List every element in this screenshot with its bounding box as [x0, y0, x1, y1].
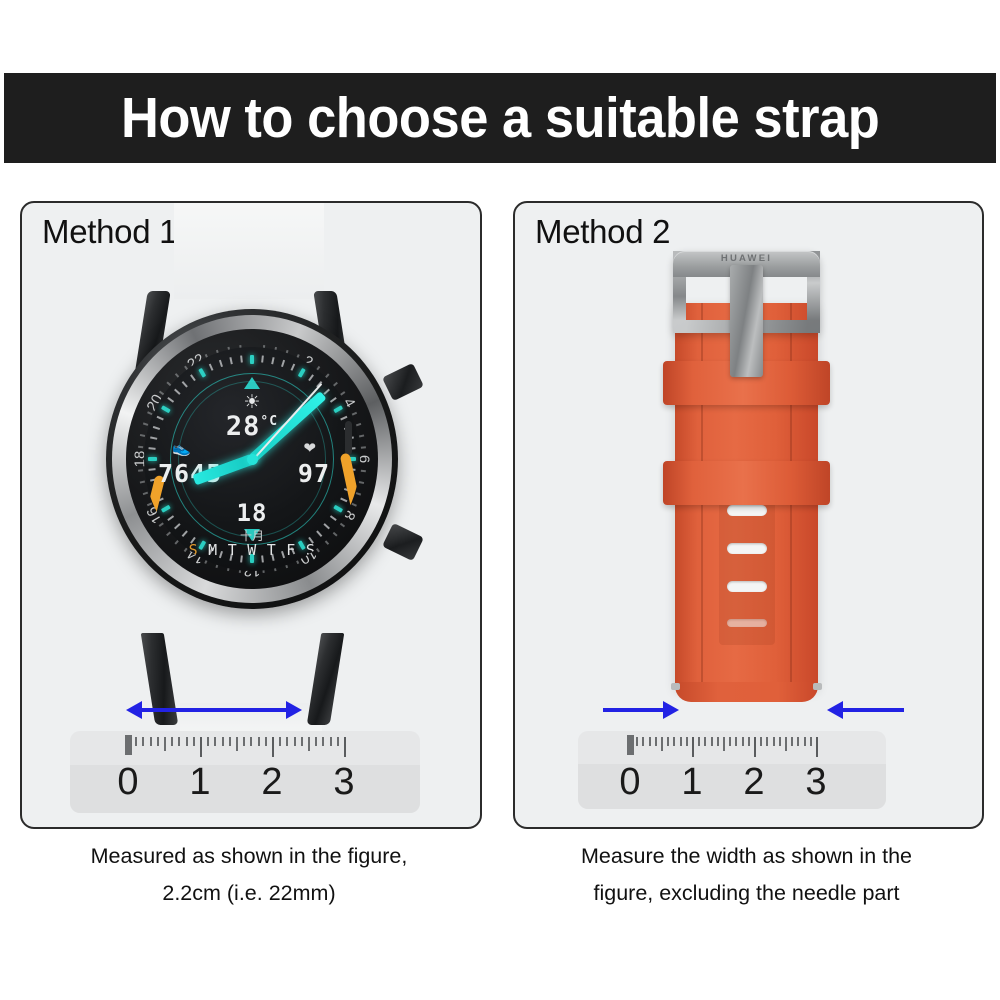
- dial-minute-tick: [316, 530, 322, 537]
- dial-hour-marker: [148, 457, 157, 461]
- watch-hand-pivot: [247, 454, 258, 465]
- ruler-tick-minor: [315, 737, 317, 746]
- arrow-shaft-left: [603, 708, 665, 712]
- arrow-head-pointing-left: [827, 701, 843, 719]
- bezel-tick: [356, 423, 361, 426]
- ruler-tick-minor: [308, 737, 310, 751]
- ruler-tick-minor: [810, 737, 812, 746]
- bezel-tick: [143, 492, 148, 495]
- ruler-tick-minor: [164, 737, 166, 751]
- method-2-caption: Measure the width as shown in the figure…: [513, 838, 980, 912]
- dial-minute-tick: [308, 374, 314, 381]
- ruler-tick-minor: [186, 737, 188, 746]
- strap-keeper-loop: [663, 461, 830, 505]
- ruler-tick-minor: [791, 737, 793, 746]
- dial-hour-marker: [298, 368, 306, 378]
- method-1-panel: Method 1 246810121416182022: [20, 201, 482, 829]
- dial-minute-tick: [209, 364, 214, 371]
- method-1-measure-arrow: [22, 697, 480, 727]
- dial-minute-tick: [340, 498, 347, 503]
- ruler-tick-minor: [686, 737, 688, 746]
- ruler-tick-minor: [142, 737, 144, 746]
- dial-weekday-row: SMTWTFS: [179, 541, 326, 559]
- watch-crown-button-top: [382, 363, 424, 401]
- dial-minute-tick: [281, 360, 285, 367]
- dial-minute-tick: [148, 447, 155, 450]
- ruler-tick-minor: [157, 737, 159, 746]
- ruler-tick-minor: [717, 737, 719, 746]
- dial-minute-tick: [174, 523, 181, 529]
- ruler-tick-minor: [729, 737, 731, 746]
- dial-hour-marker: [161, 505, 171, 513]
- dial-minute-tick: [182, 381, 188, 388]
- dial-marker-triangle-top: [244, 377, 260, 389]
- ruler-tick-minor: [258, 737, 260, 746]
- bezel-tick: [361, 446, 366, 448]
- dial-minute-tick: [340, 416, 347, 421]
- ruler-tick-minor: [748, 737, 750, 746]
- ruler-tick-major: [272, 737, 274, 757]
- method-2-panel: Method 2 HUAWEI: [513, 201, 984, 829]
- strap-hole: [727, 619, 767, 627]
- strap-spring-bar-left: [671, 683, 680, 690]
- ruler-tick-minor: [150, 737, 152, 746]
- heart-icon: ❤: [303, 439, 316, 457]
- ruler-tick-minor: [265, 737, 267, 746]
- dial-heart-rate: 97: [298, 459, 330, 488]
- dial-hour-marker: [333, 405, 343, 413]
- dial-date-day: 18: [237, 499, 268, 527]
- method-2-ruler: 0123: [578, 731, 886, 809]
- ruler-tick-minor: [171, 737, 173, 746]
- ruler-tick-zero: [627, 735, 634, 755]
- arrow-head-right: [286, 701, 302, 719]
- dial-progress-arc-right-tail: [345, 421, 352, 455]
- ruler-tick-minor: [661, 737, 663, 751]
- ruler-tick-minor: [279, 737, 281, 746]
- dial-hour-marker: [198, 368, 206, 378]
- caption-line: Measured as shown in the figure,: [20, 838, 478, 875]
- dial-minute-tick: [150, 436, 157, 439]
- ruler-number: 2: [261, 761, 282, 804]
- dial-minute-tick: [148, 468, 155, 471]
- caption-line: 2.2cm (i.e. 22mm): [20, 875, 478, 912]
- dial-minute-tick: [261, 355, 264, 362]
- ruler-tick-minor: [250, 737, 252, 746]
- dial-hour-marker: [333, 505, 343, 513]
- strap-hole: [727, 505, 767, 516]
- ruler-tick-minor: [742, 737, 744, 746]
- ruler-tick-minor: [766, 737, 768, 746]
- ruler-tick-minor: [294, 737, 296, 746]
- bezel-tick: [359, 434, 364, 437]
- watch-band-top: [174, 203, 324, 299]
- watch-crown-button-bottom: [382, 523, 424, 561]
- ruler-number: 3: [333, 761, 354, 804]
- dial-hour-marker: [161, 405, 171, 413]
- arrow-head-pointing-right: [663, 701, 679, 719]
- ruler-tick-minor: [655, 737, 657, 746]
- ruler-tick-minor: [723, 737, 725, 751]
- ruler-tick-minor: [178, 737, 180, 746]
- ruler-tick-minor: [735, 737, 737, 746]
- ruler-tick-minor: [785, 737, 787, 751]
- bezel-tick: [140, 481, 145, 484]
- ruler-tick-minor: [642, 737, 644, 746]
- ruler-tick-minor: [636, 737, 638, 746]
- dial-minute-tick: [271, 357, 274, 364]
- dial-minute-tick: [323, 523, 330, 529]
- ruler-ticks: [70, 731, 420, 765]
- watch-dial: ☀ 28°C 👟 7645 ❤ 97 18 十月 SMTWTFS: [144, 347, 360, 571]
- dial-minute-tick: [153, 426, 160, 430]
- ruler-tick-minor: [193, 737, 195, 746]
- ruler-tick-minor: [229, 737, 231, 746]
- ruler-number: 1: [189, 761, 210, 804]
- arrow-shaft-right: [842, 708, 904, 712]
- shoe-icon: 👟: [172, 439, 191, 457]
- ruler-tick-minor: [337, 737, 339, 746]
- ruler-tick-major: [200, 737, 202, 757]
- ruler-tick-minor: [214, 737, 216, 746]
- ruler-number: 2: [743, 761, 764, 804]
- bezel-tick: [138, 470, 143, 472]
- bezel-tick: [361, 470, 366, 472]
- ruler-tick-minor: [330, 737, 332, 746]
- method-1-ruler: 0123: [70, 731, 420, 813]
- bezel-tick: [138, 446, 143, 448]
- ruler-tick-minor: [222, 737, 224, 746]
- dial-minute-tick: [229, 357, 232, 364]
- ruler-tick-minor: [236, 737, 238, 751]
- dial-minute-tick: [330, 515, 337, 521]
- ruler-tick-minor: [680, 737, 682, 746]
- dial-minute-tick: [174, 389, 181, 395]
- arrow-shaft: [140, 708, 288, 712]
- strap-hole: [727, 543, 767, 554]
- bezel-tick: [352, 412, 357, 415]
- ruler-number: 3: [805, 761, 826, 804]
- bezel-tick: [359, 481, 364, 484]
- page-root: How to choose a suitable strap Method 1 …: [0, 0, 1000, 1000]
- dial-minute-tick: [167, 515, 174, 521]
- dial-minute-tick: [240, 355, 243, 362]
- ruler-number: 1: [681, 761, 702, 804]
- bezel-tick: [143, 423, 148, 426]
- page-title: How to choose a suitable strap: [121, 85, 879, 151]
- ruler-tick-major: [816, 737, 818, 757]
- ruler-tick-major: [344, 737, 346, 757]
- strap-hole: [727, 581, 767, 592]
- temperature-value: 28: [226, 411, 261, 442]
- ruler-tick-minor: [804, 737, 806, 746]
- dial-minute-tick: [330, 397, 337, 403]
- dial-hour-marker: [250, 355, 254, 364]
- ruler-tick-major: [754, 737, 756, 757]
- ruler-tick-minor: [207, 737, 209, 746]
- caption-line: Measure the width as shown in the: [513, 838, 980, 875]
- ruler-tick-minor: [649, 737, 651, 746]
- ruler-tick-zero: [125, 735, 132, 755]
- ruler-tick-minor: [773, 737, 775, 746]
- ruler-tick-minor: [711, 737, 713, 746]
- temperature-unit: °C: [260, 414, 278, 429]
- bezel-tick: [340, 523, 345, 527]
- strap-spring-bar-right: [813, 683, 822, 690]
- method-1-caption: Measured as shown in the figure, 2.2cm (…: [20, 838, 478, 912]
- ruler-tick-minor: [760, 737, 762, 746]
- ruler-tick-minor: [243, 737, 245, 746]
- ruler-tick-minor: [286, 737, 288, 746]
- ruler-numbers: 0123: [70, 761, 420, 807]
- header-banner: How to choose a suitable strap: [5, 74, 995, 162]
- buckle-brand-label: HUAWEI: [673, 253, 820, 264]
- ruler-tick-minor: [135, 737, 137, 746]
- dial-minute-tick: [182, 530, 188, 537]
- ruler-number: 0: [117, 761, 138, 804]
- method-2-measure-arrows: [515, 697, 982, 727]
- buckle-tongue-needle: [730, 265, 763, 377]
- ruler-tick-minor: [673, 737, 675, 746]
- ruler-tick-minor: [667, 737, 669, 746]
- dial-minute-tick: [323, 389, 330, 395]
- ruler-numbers: 0123: [578, 761, 886, 807]
- dial-minute-tick: [157, 416, 164, 421]
- ruler-tick-major: [692, 737, 694, 757]
- ruler-tick-minor: [301, 737, 303, 746]
- weekday-active: S: [189, 541, 209, 559]
- ruler-ticks: [578, 731, 886, 765]
- watch-case: 246810121416182022 ☀ 28°C 👟 7645 ❤ 97: [106, 309, 398, 609]
- dial-minute-tick: [167, 397, 174, 403]
- ruler-tick-minor: [704, 737, 706, 746]
- dial-minute-tick: [219, 360, 223, 367]
- dial-minute-tick: [291, 364, 296, 371]
- caption-line: figure, excluding the needle part: [513, 875, 980, 912]
- ruler-tick-minor: [322, 737, 324, 746]
- ruler-tick-minor: [797, 737, 799, 746]
- ruler-number: 0: [619, 761, 640, 804]
- bezel-tick: [140, 434, 145, 437]
- dial-minute-tick: [190, 374, 196, 381]
- ruler-tick-minor: [698, 737, 700, 746]
- ruler-tick-minor: [779, 737, 781, 746]
